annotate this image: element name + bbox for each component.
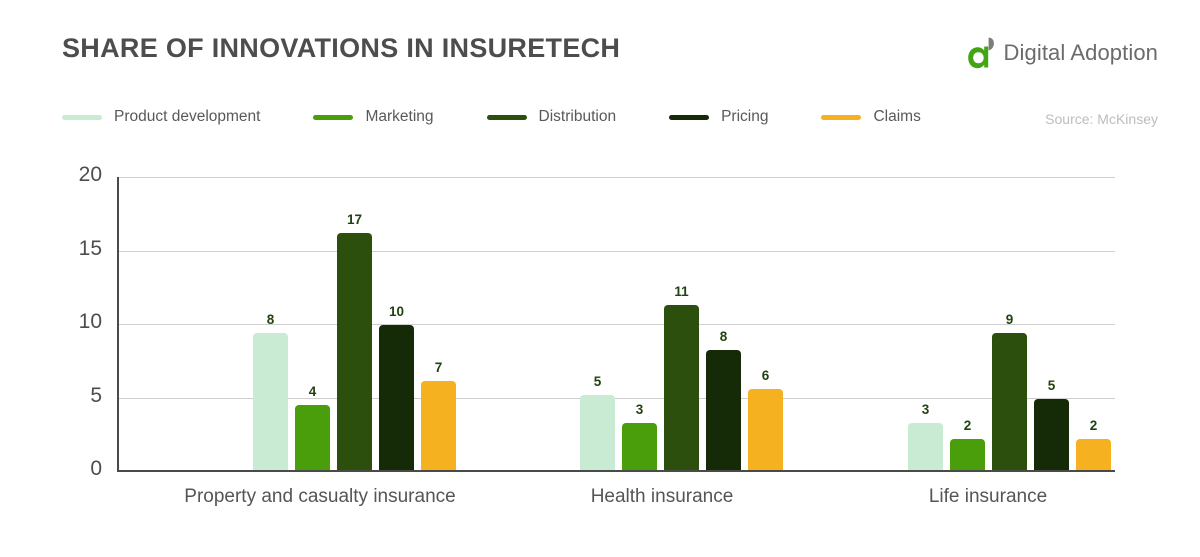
- plot-container: 841710753118632952 20151050 Property and…: [0, 0, 1200, 557]
- y-axis-tick-label: 20: [42, 163, 102, 187]
- y-axis-tick-label: 0: [42, 457, 102, 481]
- y-axis-ticks: 20151050: [0, 177, 1200, 471]
- x-axis-category-label: Life insurance: [738, 486, 1200, 508]
- chart-page: SHARE OF INNOVATIONS IN INSURETECH Digit…: [0, 0, 1200, 557]
- y-axis-tick-label: 15: [42, 237, 102, 261]
- y-axis-tick-label: 5: [42, 384, 102, 408]
- y-axis-tick-label: 10: [42, 310, 102, 334]
